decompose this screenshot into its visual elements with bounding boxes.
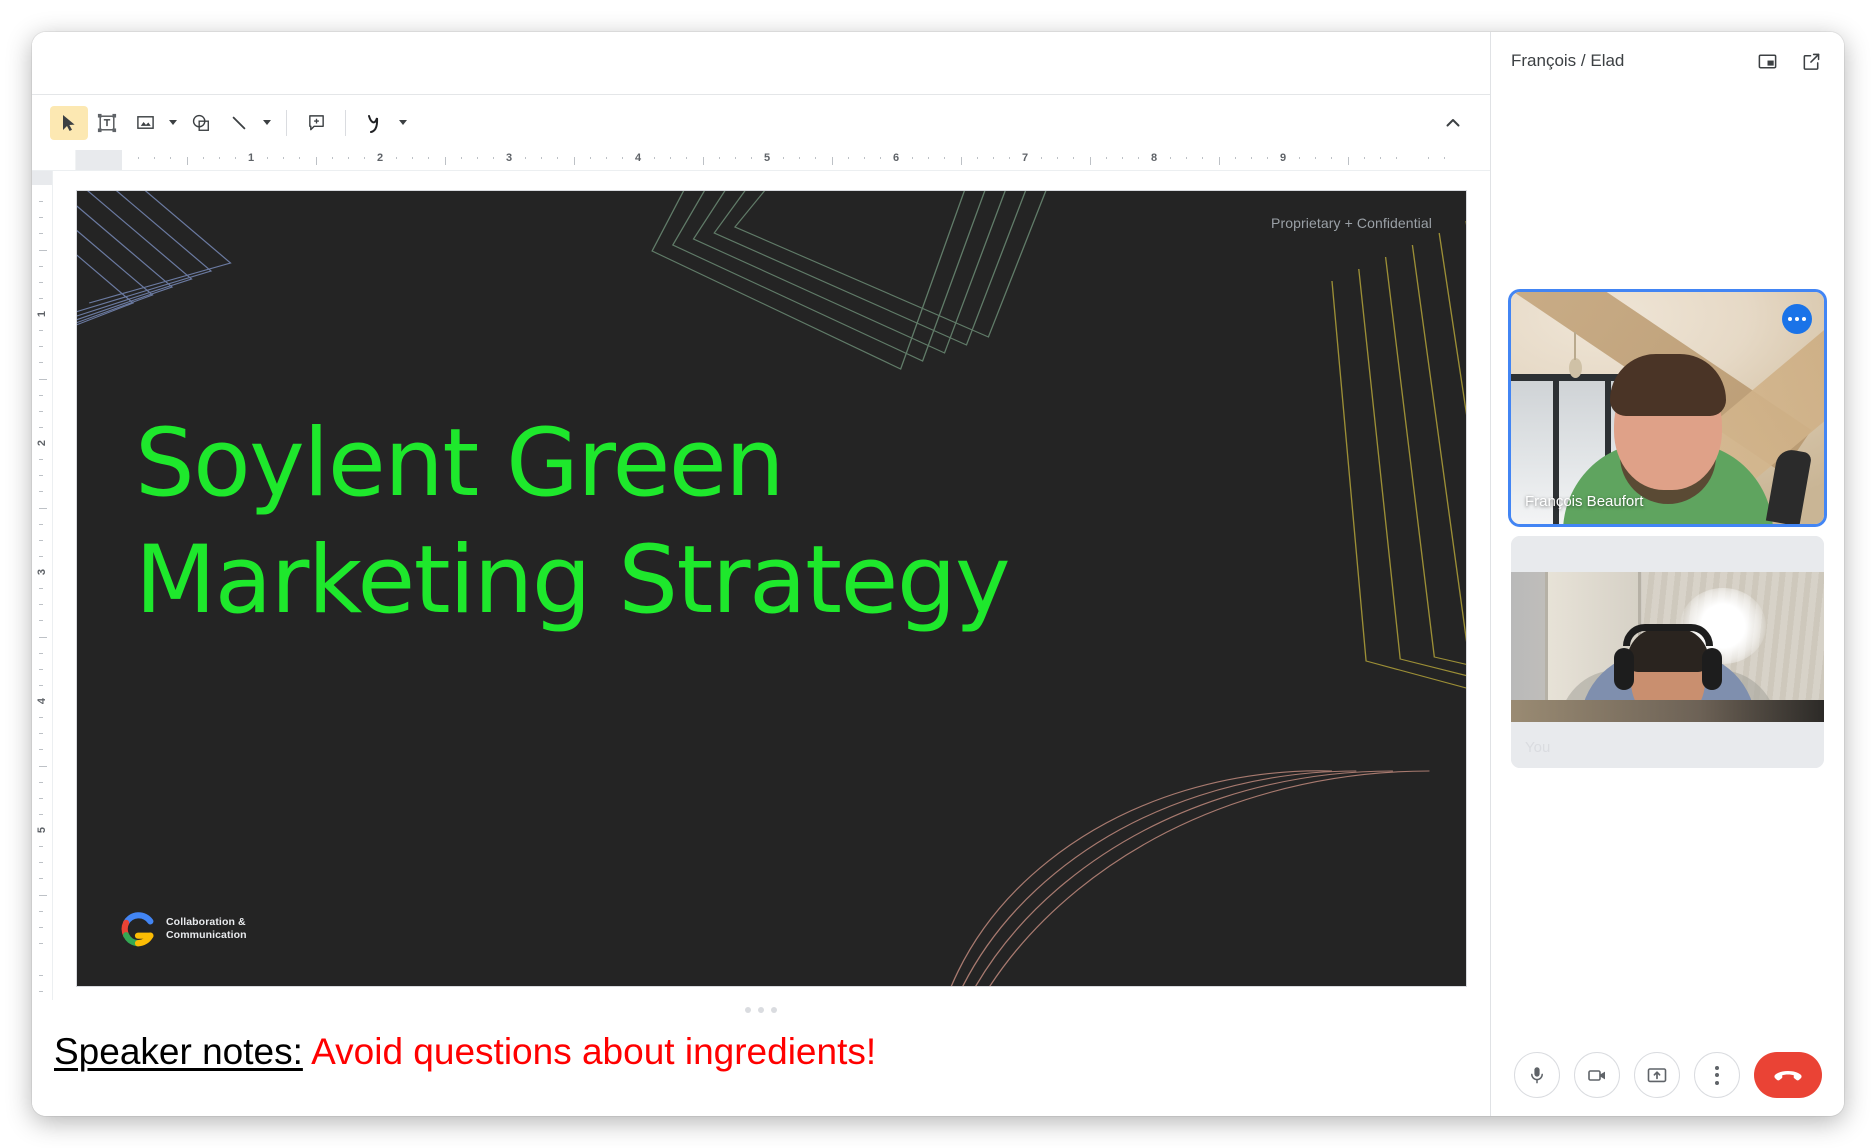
- ruler-h-tick: [267, 157, 268, 159]
- ruler-v-tick: [39, 975, 43, 976]
- horizontal-ruler-margin: [76, 150, 122, 170]
- ruler-h-tick: [735, 157, 736, 159]
- ruler-h-number: 1: [248, 152, 254, 164]
- speaker-notes-text: Avoid questions about ingredients!: [311, 1031, 876, 1072]
- ruler-h-tick: [1444, 157, 1445, 159]
- more-dot: [1795, 317, 1799, 321]
- ruler-h-tick: [993, 157, 994, 159]
- line-tool-dropdown[interactable]: [258, 106, 276, 140]
- ruler-h-number: 5: [764, 152, 770, 164]
- add-comment-icon: [307, 113, 326, 132]
- ruler-v-tick: [39, 766, 47, 767]
- ruler-v-tick: [39, 895, 47, 896]
- ruler-v-tick: [39, 911, 43, 912]
- ruler-h-tick: [493, 157, 494, 159]
- yellow-fan-lines: [1332, 221, 1466, 711]
- participant-tile-francois[interactable]: François Beaufort: [1511, 292, 1824, 524]
- cursor-arrow-icon: [61, 114, 77, 132]
- drag-dot: [758, 1007, 764, 1013]
- ruler-h-tick: [606, 157, 607, 159]
- ruler-h-tick: [428, 157, 429, 159]
- ruler-h-tick: [1380, 157, 1381, 159]
- ruler-h-tick: [1428, 157, 1429, 159]
- ruler-v-number: 1: [36, 311, 48, 317]
- ruler-v-number: 3: [36, 569, 48, 575]
- curve-pen-icon: [364, 112, 386, 134]
- ruler-v-tick: [39, 491, 43, 492]
- ruler-h-number: 4: [635, 152, 641, 164]
- ruler-h-number: 7: [1022, 152, 1028, 164]
- ruler-h-number: 9: [1280, 152, 1286, 164]
- ruler-v-number: 5: [36, 827, 48, 833]
- webcam-feed-image: [1511, 292, 1824, 524]
- ruler-h-tick: [912, 157, 913, 159]
- speaker-notes-label: Speaker notes:: [54, 1031, 303, 1072]
- ruler-v-tick: [39, 427, 43, 428]
- meet-header: François / Elad: [1491, 32, 1844, 90]
- ruler-h-tick: [1186, 157, 1187, 159]
- participant-tiles: François Beaufort: [1491, 286, 1844, 768]
- speaker-notes-line: Speaker notes: Avoid questions about ing…: [54, 1029, 1464, 1075]
- picture-in-picture-icon: [1757, 51, 1778, 72]
- ruler-v-tick: [39, 250, 47, 251]
- ruler-v-tick: [39, 653, 43, 654]
- ruler-h-tick: [1073, 157, 1074, 159]
- ruler-v-tick: [39, 717, 43, 718]
- ruler-v-tick: [39, 943, 43, 944]
- more-dot: [1715, 1066, 1719, 1070]
- ruler-v-tick: [39, 346, 43, 347]
- ruler-h-tick: [880, 157, 881, 159]
- more-dot: [1788, 317, 1792, 321]
- ruler-h-tick: [1170, 157, 1171, 159]
- ruler-v-tick: [39, 266, 43, 267]
- ruler-v-number: 4: [36, 698, 48, 704]
- tile-letterbox-top: [1511, 536, 1824, 572]
- ruler-v-tick: [39, 298, 43, 299]
- ruler-h-tick: [525, 157, 526, 159]
- ruler-v-tick: [39, 733, 43, 734]
- comment-tool[interactable]: [297, 106, 335, 140]
- ruler-v-tick: [39, 540, 43, 541]
- curve-tool-dropdown[interactable]: [394, 106, 412, 140]
- ruler-h-number: 6: [893, 152, 899, 164]
- ruler-h-tick: [751, 157, 752, 159]
- ruler-v-tick: [39, 749, 43, 750]
- ruler-v-tick: [39, 862, 43, 863]
- ruler-h-tick: [832, 157, 833, 165]
- ruler-h-tick: [1122, 157, 1123, 159]
- ruler-h-tick: [219, 157, 220, 159]
- ruler-h-tick: [590, 157, 591, 159]
- ruler-h-tick: [461, 157, 462, 159]
- ruler-h-tick: [961, 157, 962, 165]
- chevron-up-icon: [1443, 113, 1463, 133]
- slide-canvas[interactable]: Proprietary + Confidential Soylent Green…: [77, 191, 1466, 986]
- participant-video-you: [1511, 572, 1824, 722]
- video-camera-icon: [1586, 1065, 1608, 1085]
- tile-more-options-button[interactable]: [1782, 304, 1812, 334]
- canvas-area: 12345: [32, 171, 1490, 1000]
- ruler-h-tick: [1090, 157, 1091, 165]
- app-window: 123456789 12345: [32, 32, 1844, 1116]
- ruler-v-tick: [39, 459, 43, 460]
- google-c-logo-icon: [119, 910, 157, 948]
- microphone-button[interactable]: [1514, 1052, 1560, 1098]
- line-icon: [230, 114, 248, 132]
- ruler-v-tick: [39, 508, 47, 509]
- ruler-v-tick: [39, 685, 43, 686]
- ruler-h-tick: [316, 157, 317, 165]
- ruler-h-tick: [235, 157, 236, 159]
- slide-confidential-label: Proprietary + Confidential: [1271, 215, 1432, 231]
- blue-angular-lines: [77, 191, 231, 353]
- ruler-v-tick: [39, 814, 43, 815]
- ruler-h-tick: [170, 157, 171, 159]
- ruler-h-tick: [815, 157, 816, 159]
- notes-resize-handle[interactable]: [32, 1000, 1490, 1020]
- horizontal-ruler-track[interactable]: 123456789: [76, 150, 1490, 170]
- ruler-v-tick: [39, 620, 43, 621]
- ruler-h-tick: [944, 157, 945, 159]
- more-dot: [1715, 1081, 1719, 1085]
- ruler-h-tick: [1299, 157, 1300, 159]
- ruler-h-tick: [1331, 157, 1332, 159]
- image-icon: [136, 113, 155, 132]
- editor-top-blank-area: [32, 32, 1490, 94]
- ruler-v-tick: [39, 991, 43, 992]
- ruler-v-tick: [39, 782, 43, 783]
- phone-hangup-icon: [1773, 1066, 1803, 1084]
- ruler-h-tick: [1041, 157, 1042, 159]
- slides-toolbar: [32, 94, 1490, 150]
- more-dot: [1802, 317, 1806, 321]
- ruler-h-tick: [799, 157, 800, 159]
- collapse-toolbar-button[interactable]: [1436, 106, 1470, 140]
- ruler-h-tick: [412, 157, 413, 159]
- ruler-h-tick: [1106, 157, 1107, 159]
- ruler-h-tick: [1396, 157, 1397, 159]
- participant-video-francois: [1511, 292, 1824, 524]
- ruler-h-tick: [138, 157, 139, 159]
- curve-tool[interactable]: [356, 106, 394, 140]
- more-dot: [1715, 1073, 1719, 1077]
- ruler-h-tick: [1202, 157, 1203, 159]
- ruler-v-tick: [39, 379, 47, 380]
- speaker-notes-pane[interactable]: Speaker notes: Avoid questions about ing…: [32, 1020, 1490, 1116]
- ruler-v-tick: [39, 411, 43, 412]
- ruler-h-tick: [283, 157, 284, 159]
- textbox-tool[interactable]: [88, 106, 126, 140]
- ruler-h-tick: [364, 157, 365, 159]
- image-tool-dropdown[interactable]: [164, 106, 182, 140]
- ruler-v-tick: [39, 556, 43, 557]
- participant-tile-you[interactable]: You: [1511, 536, 1824, 768]
- ruler-h-tick: [1057, 157, 1058, 159]
- ruler-h-tick: [541, 157, 542, 159]
- ruler-v-tick: [39, 927, 43, 928]
- ruler-h-tick: [1348, 157, 1349, 165]
- slide-logo: Collaboration & Communication: [119, 910, 247, 948]
- ruler-h-tick: [1315, 157, 1316, 159]
- ruler-h-tick: [719, 157, 720, 159]
- shape-icon: [191, 113, 211, 133]
- ruler-v-tick: [39, 637, 47, 638]
- ruler-h-tick: [574, 157, 575, 165]
- meet-call-title: François / Elad: [1511, 51, 1740, 71]
- ruler-h-number: 2: [377, 152, 383, 164]
- ruler-v-tick: [39, 233, 43, 234]
- ruler-h-tick: [622, 157, 623, 159]
- ruler-h-tick: [1009, 157, 1010, 159]
- ruler-h-tick: [299, 157, 300, 159]
- text-box-icon: [97, 113, 117, 133]
- ruler-v-tick: [39, 395, 43, 396]
- ruler-v-tick: [39, 217, 43, 218]
- slide-title-line-2: Marketing Strategy: [135, 523, 1195, 640]
- ruler-h-tick: [1364, 157, 1365, 159]
- ruler-v-tick: [39, 475, 43, 476]
- participant-name-label: You: [1525, 739, 1550, 756]
- drag-dot: [745, 1007, 751, 1013]
- ruler-v-tick: [39, 798, 43, 799]
- line-tool[interactable]: [220, 106, 258, 140]
- ruler-h-tick: [154, 157, 155, 159]
- ruler-h-tick: [477, 157, 478, 159]
- open-in-new-button[interactable]: [1794, 44, 1828, 78]
- ruler-h-tick: [1219, 157, 1220, 165]
- ruler-h-tick: [1267, 157, 1268, 159]
- ruler-h-tick: [670, 157, 671, 159]
- ruler-h-number: 3: [506, 152, 512, 164]
- select-tool[interactable]: [50, 106, 88, 140]
- ruler-v-tick: [39, 588, 43, 589]
- ruler-v-tick: [39, 330, 43, 331]
- ruler-h-tick: [1251, 157, 1252, 159]
- shape-tool[interactable]: [182, 106, 220, 140]
- ruler-h-tick: [396, 157, 397, 159]
- drag-dot: [771, 1007, 777, 1013]
- ruler-h-tick: [654, 157, 655, 159]
- slide-stage: Proprietary + Confidential Soylent Green…: [53, 171, 1490, 1000]
- participant-name-label: François Beaufort: [1525, 493, 1643, 510]
- ruler-h-tick: [848, 157, 849, 159]
- present-screen-icon: [1646, 1065, 1668, 1085]
- ruler-h-number: 8: [1151, 152, 1157, 164]
- ruler-h-tick: [1235, 157, 1236, 159]
- camera-button[interactable]: [1574, 1052, 1620, 1098]
- ruler-h-tick: [864, 157, 865, 159]
- pink-arc-lines: [930, 771, 1430, 986]
- ruler-v-tick: [39, 669, 43, 670]
- ruler-v-number: 2: [36, 440, 48, 446]
- ruler-h-tick: [187, 157, 188, 165]
- ruler-h-tick: [557, 157, 558, 159]
- ruler-h-tick: [686, 157, 687, 159]
- picture-in-picture-button[interactable]: [1750, 44, 1784, 78]
- hangup-button[interactable]: [1754, 1052, 1822, 1098]
- open-in-new-icon: [1801, 51, 1822, 72]
- ruler-v-tick: [39, 604, 43, 605]
- slide-logo-label: Collaboration & Communication: [166, 916, 247, 942]
- ruler-h-tick: [445, 157, 446, 165]
- microphone-icon: [1527, 1065, 1547, 1085]
- tile-letterbox-bottom: [1511, 722, 1824, 768]
- ruler-corner: [32, 150, 76, 170]
- ruler-v-tick: [39, 846, 43, 847]
- ruler-h-tick: [928, 157, 929, 159]
- ruler-h-tick: [203, 157, 204, 159]
- ruler-h-tick: [703, 157, 704, 165]
- ruler-h-tick: [348, 157, 349, 159]
- more-options-button[interactable]: [1694, 1052, 1740, 1098]
- ruler-h-tick: [977, 157, 978, 159]
- ruler-v-tick: [39, 878, 43, 879]
- present-button[interactable]: [1634, 1052, 1680, 1098]
- ruler-v-tick: [39, 201, 43, 202]
- ruler-v-tick: [39, 282, 43, 283]
- ruler-h-tick: [783, 157, 784, 159]
- ruler-v-tick: [39, 362, 43, 363]
- webcam-feed-image: [1511, 572, 1824, 722]
- ruler-v-tick: [39, 524, 43, 525]
- ruler-h-tick: [332, 157, 333, 159]
- toolbar-divider-1: [286, 110, 287, 136]
- meet-control-bar: [1491, 1052, 1844, 1098]
- ruler-h-tick: [1138, 157, 1139, 159]
- vertical-ruler-margin: [32, 171, 52, 185]
- green-angular-lines: [652, 191, 1061, 369]
- vertical-ruler[interactable]: 12345: [32, 171, 53, 1000]
- horizontal-ruler[interactable]: 123456789: [32, 150, 1490, 171]
- slide-title[interactable]: Soylent Green Marketing Strategy: [135, 406, 1195, 639]
- slide-title-line-1: Soylent Green: [135, 406, 1195, 523]
- toolbar-divider-2: [345, 110, 346, 136]
- image-tool[interactable]: [126, 106, 164, 140]
- slides-editor: 123456789 12345: [32, 32, 1490, 1116]
- meet-side-panel: François / Elad: [1490, 32, 1844, 1116]
